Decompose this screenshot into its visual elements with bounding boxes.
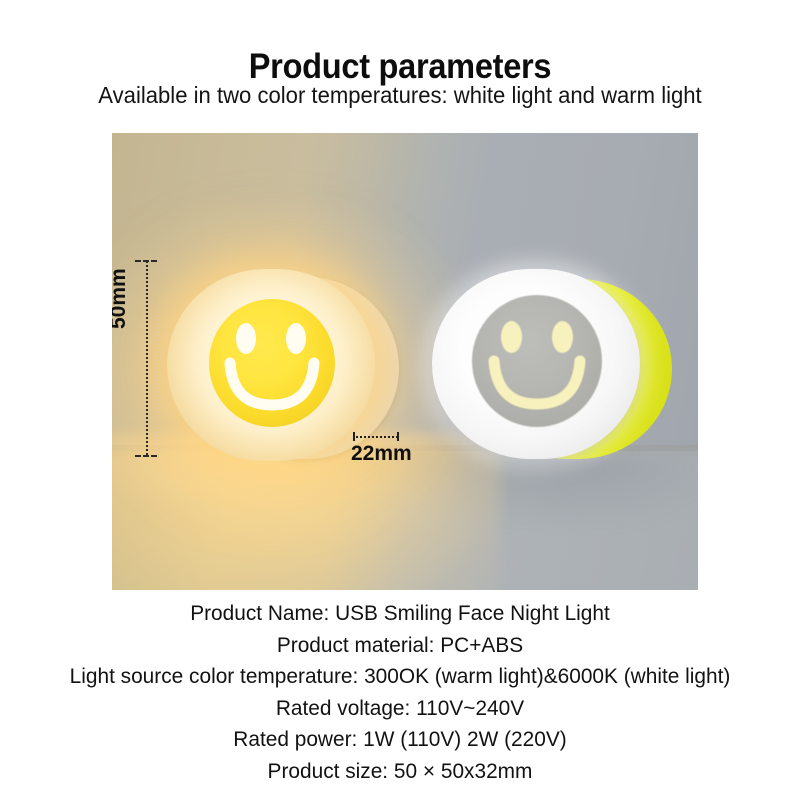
product-photo: 50mm 22mm bbox=[112, 133, 698, 590]
spec-line-rated-voltage: Rated voltage: 110V~240V bbox=[12, 693, 788, 725]
smiley-right-eye bbox=[552, 321, 573, 353]
warm-lamp-front-face bbox=[167, 269, 375, 461]
white-lamp-front-face bbox=[432, 269, 640, 459]
dimension-depth-label: 22mm bbox=[351, 442, 412, 466]
smiley-right-eye bbox=[286, 323, 306, 354]
smiley-left-eye bbox=[236, 323, 256, 354]
white-lamp-smiley-disc bbox=[472, 295, 602, 427]
white-light-lamp bbox=[432, 269, 682, 469]
page-subtitle: Available in two color temperatures: whi… bbox=[16, 82, 784, 109]
dimension-height-label: 50mm bbox=[112, 268, 131, 329]
spec-line-color-temperature: Light source color temperature: 300OK (w… bbox=[12, 661, 788, 693]
warm-lamp-smiley-disc bbox=[209, 299, 335, 427]
smiley-left-eye bbox=[501, 321, 522, 353]
spec-line-rated-power: Rated power: 1W (110V) 2W (220V) bbox=[12, 724, 788, 756]
specification-list: Product Name: USB Smiling Face Night Lig… bbox=[0, 598, 800, 787]
dimension-horizontal-line bbox=[353, 436, 398, 438]
spec-line-material: Product material: PC+ABS bbox=[12, 630, 788, 662]
dimension-right-tick bbox=[397, 432, 399, 441]
spec-line-product-name: Product Name: USB Smiling Face Night Lig… bbox=[12, 598, 788, 630]
dimension-left-tick bbox=[353, 432, 355, 441]
spec-line-product-size: Product size: 50 × 50x32mm bbox=[12, 756, 788, 788]
warm-light-lamp bbox=[167, 269, 407, 469]
dimension-vertical-line bbox=[146, 261, 148, 455]
dimension-bottom-cap bbox=[135, 455, 157, 457]
smiley-mouth bbox=[221, 357, 323, 413]
smiley-mouth bbox=[485, 355, 590, 413]
